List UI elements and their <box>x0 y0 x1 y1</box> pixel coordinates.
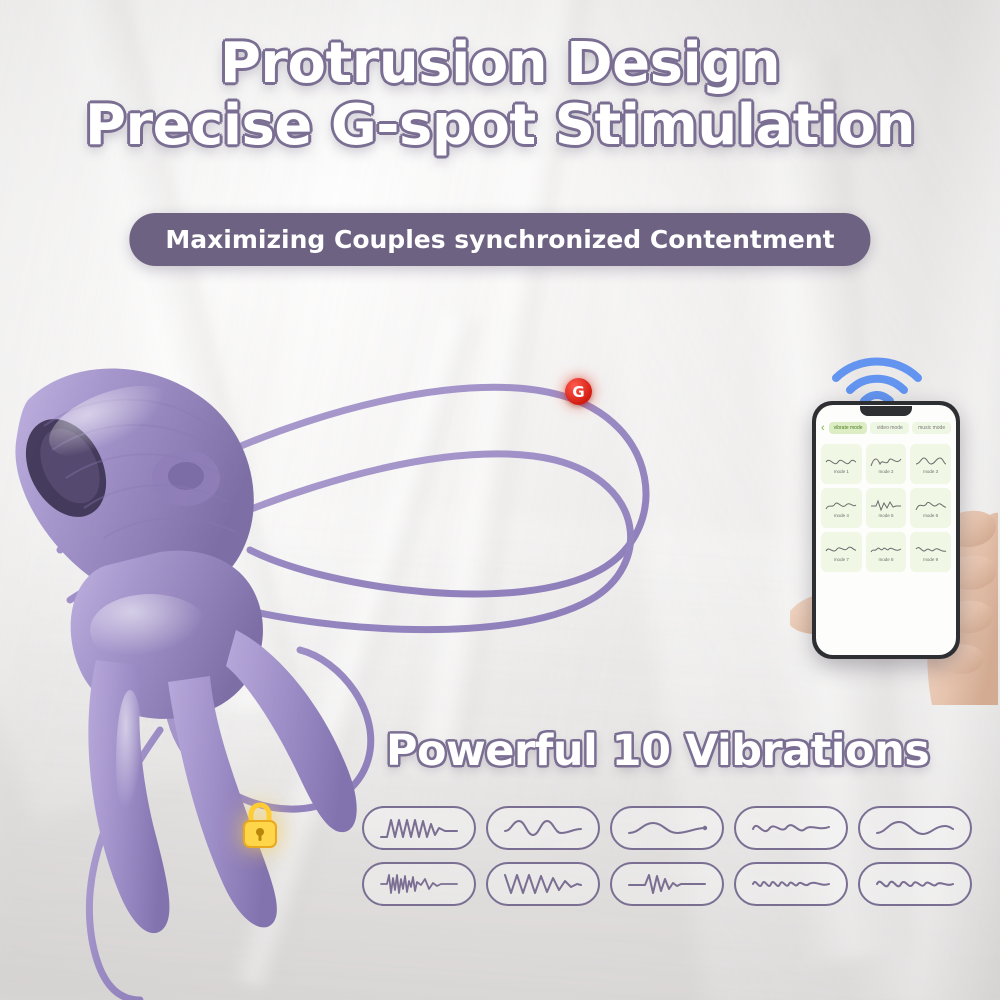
back-icon[interactable]: ‹ <box>821 423 825 434</box>
smartphone: ‹ vibrate mode video mode music mode mod… <box>812 401 960 659</box>
mode-label: mode 2 <box>878 469 893 474</box>
feature-title: Powerful 10 Vibrations <box>386 726 929 776</box>
mode-cell[interactable]: mode 1 <box>821 444 862 484</box>
tab-video-mode[interactable]: video mode <box>870 422 909 434</box>
sub-banner: Maximizing Couples synchronized Contentm… <box>129 213 870 266</box>
lock-icon <box>238 800 282 852</box>
mode-label: mode 7 <box>834 557 849 562</box>
pattern-spike-burst[interactable] <box>362 862 476 906</box>
mode-label: mode 3 <box>923 469 938 474</box>
headline-line-2: Precise G-spot Stimulation <box>0 98 1000 154</box>
mode-grid: mode 1 mode 2 mode 3 mode 4 mode 5 <box>816 439 956 577</box>
mode-cell[interactable]: mode 6 <box>910 488 951 528</box>
vibration-pattern-row-1 <box>362 806 998 850</box>
pattern-gentle-curve[interactable] <box>610 806 724 850</box>
mode-label: mode 1 <box>834 469 849 474</box>
product-poster: G <box>0 0 1000 1000</box>
mode-cell[interactable]: mode 4 <box>821 488 862 528</box>
app-tab-bar: vibrate mode video mode music mode <box>829 422 951 434</box>
mode-label: mode 5 <box>878 513 893 518</box>
headline-line-1: Protrusion Design <box>0 36 1000 92</box>
mode-label: mode 6 <box>923 513 938 518</box>
mode-cell[interactable]: mode 2 <box>866 444 907 484</box>
mode-cell[interactable]: mode 3 <box>910 444 951 484</box>
pattern-dense-zigzag[interactable] <box>362 806 476 850</box>
vibration-pattern-row-2 <box>362 862 998 906</box>
phone-notch <box>860 406 912 416</box>
pattern-tall-zigzag[interactable] <box>486 862 600 906</box>
mode-cell[interactable]: mode 8 <box>866 532 907 572</box>
pattern-ripple-wave[interactable] <box>734 862 848 906</box>
product-vibrator <box>0 330 420 950</box>
pattern-narrow-spike[interactable] <box>610 862 724 906</box>
mode-cell[interactable]: mode 7 <box>821 532 862 572</box>
phone-screen: ‹ vibrate mode video mode music mode mod… <box>816 405 956 655</box>
poster-headline: Protrusion Design Precise G-spot Stimula… <box>0 36 1000 154</box>
mode-label: mode 8 <box>878 557 893 562</box>
pattern-smooth-wave[interactable] <box>486 806 600 850</box>
mode-label: mode 9 <box>923 557 938 562</box>
mode-label: mode 4 <box>834 513 849 518</box>
pattern-long-ripple[interactable] <box>858 862 972 906</box>
tab-vibrate-mode[interactable]: vibrate mode <box>829 422 868 434</box>
mode-cell[interactable]: mode 9 <box>910 532 951 572</box>
mode-cell[interactable]: mode 5 <box>866 488 907 528</box>
vibration-pattern-list <box>362 806 998 918</box>
pattern-rolling-wave[interactable] <box>734 806 848 850</box>
pattern-single-hump[interactable] <box>858 806 972 850</box>
g-spot-marker-icon: G <box>565 378 592 405</box>
tab-music-mode[interactable]: music mode <box>912 422 951 434</box>
